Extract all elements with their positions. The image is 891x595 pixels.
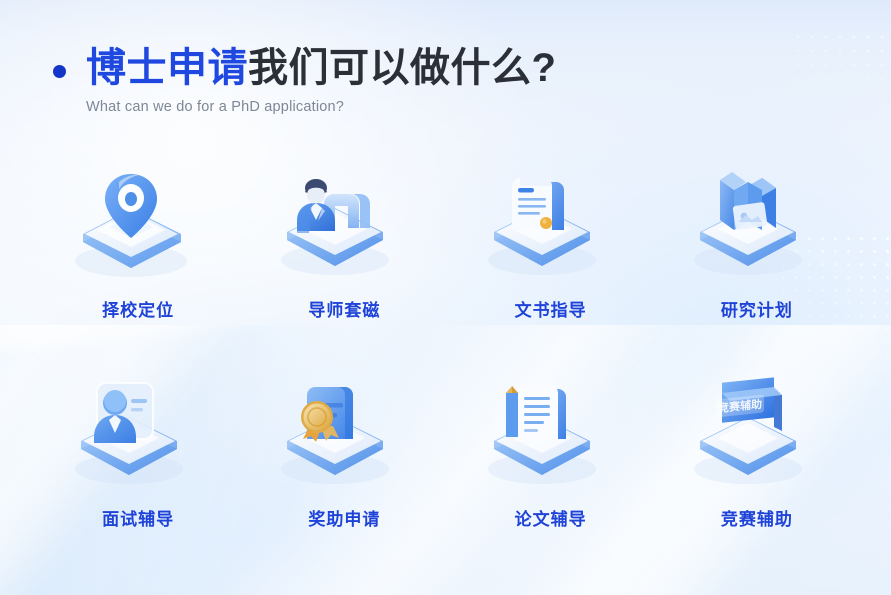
- service-item-document[interactable]: 文书指导: [448, 160, 654, 321]
- service-label: 奖助申请: [308, 505, 380, 530]
- service-label: 面试辅导: [102, 505, 174, 530]
- service-item-interview[interactable]: 面试辅导: [35, 369, 241, 530]
- service-label: 导师套磁: [308, 296, 380, 321]
- professor-magnet-icon: [269, 160, 419, 280]
- page-title-rest: 我们可以做什么?: [248, 46, 556, 90]
- award-medal-icon: [269, 369, 419, 489]
- slide-canvas: 博士申请我们可以做什么? What can we do for a PhD ap…: [0, 0, 891, 595]
- person-card-icon: [63, 369, 213, 489]
- page-subtitle: What can we do for a PhD application?: [53, 99, 556, 115]
- service-label: 竞赛辅助: [721, 505, 793, 530]
- service-item-research-plan[interactable]: 研究计划: [654, 160, 860, 321]
- service-label: 择校定位: [102, 296, 174, 321]
- service-label: 文书指导: [515, 296, 587, 321]
- bullet-dot-icon: [53, 65, 66, 78]
- page-title-highlight: 博士申请: [86, 46, 248, 90]
- service-item-competition[interactable]: 竞赛辅助 竞赛辅助: [654, 369, 860, 530]
- paper-pencil-icon: [476, 369, 626, 489]
- dot-grid-pattern-top: [791, 30, 891, 150]
- document-seal-icon: [476, 160, 626, 280]
- service-item-professor-magnet[interactable]: 导师套磁: [241, 160, 447, 321]
- map-pin-icon: [63, 160, 213, 280]
- service-item-scholarship[interactable]: 奖助申请: [241, 369, 447, 530]
- slide-header: 博士申请我们可以做什么? What can we do for a PhD ap…: [53, 45, 556, 115]
- service-item-thesis[interactable]: 论文辅导: [448, 369, 654, 530]
- service-item-map-pin[interactable]: 择校定位: [35, 160, 241, 321]
- page-title: 博士申请我们可以做什么?: [53, 45, 556, 91]
- service-label: 研究计划: [721, 296, 793, 321]
- service-label: 论文辅导: [515, 505, 587, 530]
- service-grid: 择校定位: [35, 160, 860, 530]
- competition-board-icon: 竞赛辅助: [682, 369, 832, 489]
- open-book-icon: [682, 160, 832, 280]
